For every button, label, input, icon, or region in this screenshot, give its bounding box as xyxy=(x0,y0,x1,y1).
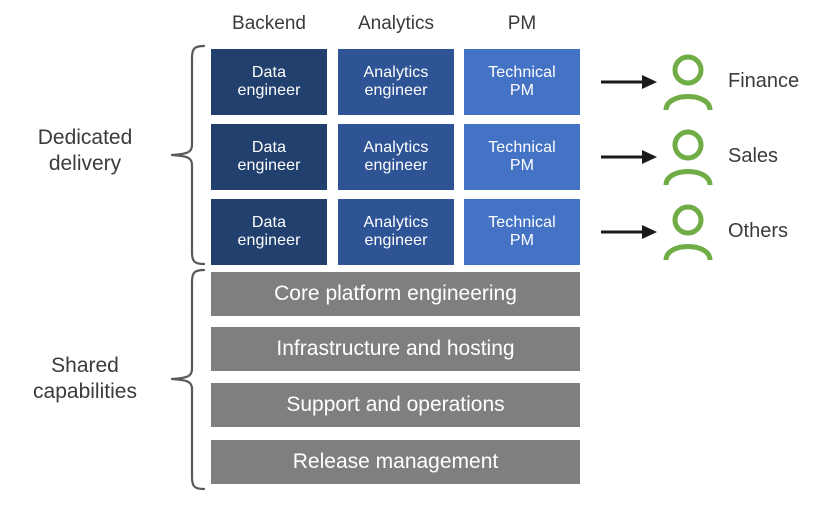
shared-capability-bar-release-management[interactable]: Release management xyxy=(211,440,580,484)
diagram-canvas: Backend Analytics PM Dedicated delivery … xyxy=(0,0,838,515)
section-label-shared-line1: Shared xyxy=(0,353,170,379)
role-label-line1: Data xyxy=(237,139,300,157)
role-label-line1: Analytics xyxy=(364,64,429,82)
role-label-line1: Analytics xyxy=(364,139,429,157)
arrow-right-icon xyxy=(600,224,658,240)
role-label-line2: engineer xyxy=(237,82,300,100)
curly-brace-icon-dedicated xyxy=(168,44,208,266)
person-icon xyxy=(662,204,714,260)
role-label-line2: engineer xyxy=(237,232,300,250)
shared-capability-bar-support-and-operations[interactable]: Support and operations xyxy=(211,383,580,427)
consumer-label-sales: Sales xyxy=(728,145,778,168)
column-header-pm: PM xyxy=(464,10,580,38)
role-box-analytics-row2[interactable]: Analytics engineer xyxy=(338,124,454,190)
role-label-line1: Technical xyxy=(488,139,556,157)
person-icon xyxy=(662,129,714,185)
role-label-line1: Technical xyxy=(488,214,556,232)
column-header-backend: Backend xyxy=(211,10,327,38)
role-box-backend-row3[interactable]: Data engineer xyxy=(211,199,327,265)
section-label-dedicated-line2: delivery xyxy=(10,151,160,177)
role-label-line2: engineer xyxy=(364,82,429,100)
consumer-row-sales: Sales xyxy=(600,127,838,189)
consumer-label-finance: Finance xyxy=(728,70,799,93)
section-label-dedicated-line1: Dedicated xyxy=(10,125,160,151)
section-label-shared-capabilities: Shared capabilities xyxy=(0,353,170,406)
section-label-dedicated-delivery: Dedicated delivery xyxy=(10,125,160,178)
role-label-line2: PM xyxy=(488,82,556,100)
shared-capability-bar-core-platform-engineering[interactable]: Core platform engineering xyxy=(211,272,580,316)
role-label-line1: Analytics xyxy=(364,214,429,232)
shared-capability-bar-infrastructure-and-hosting[interactable]: Infrastructure and hosting xyxy=(211,327,580,371)
role-label-line1: Data xyxy=(237,214,300,232)
role-box-analytics-row1[interactable]: Analytics engineer xyxy=(338,49,454,115)
role-box-pm-row3[interactable]: Technical PM xyxy=(464,199,580,265)
role-label-line2: engineer xyxy=(237,157,300,175)
role-label-line1: Data xyxy=(237,64,300,82)
consumer-row-others: Others xyxy=(600,202,838,264)
role-box-pm-row1[interactable]: Technical PM xyxy=(464,49,580,115)
arrow-right-icon xyxy=(600,74,658,90)
role-label-line2: engineer xyxy=(364,157,429,175)
section-label-shared-line2: capabilities xyxy=(0,379,170,405)
role-box-backend-row2[interactable]: Data engineer xyxy=(211,124,327,190)
role-label-line2: PM xyxy=(488,157,556,175)
arrow-right-icon xyxy=(600,149,658,165)
role-box-pm-row2[interactable]: Technical PM xyxy=(464,124,580,190)
column-header-analytics: Analytics xyxy=(338,10,454,38)
consumer-label-others: Others xyxy=(728,220,788,243)
role-label-line1: Technical xyxy=(488,64,556,82)
person-icon xyxy=(662,54,714,110)
role-label-line2: PM xyxy=(488,232,556,250)
role-label-line2: engineer xyxy=(364,232,429,250)
role-box-analytics-row3[interactable]: Analytics engineer xyxy=(338,199,454,265)
curly-brace-icon-shared xyxy=(168,268,208,491)
consumer-row-finance: Finance xyxy=(600,52,838,114)
role-box-backend-row1[interactable]: Data engineer xyxy=(211,49,327,115)
